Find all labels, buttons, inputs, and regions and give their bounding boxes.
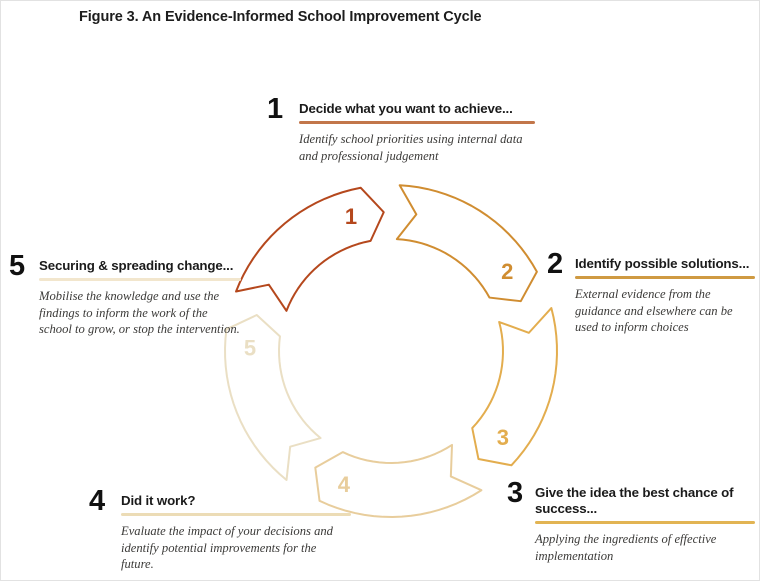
callout-body-1: Decide what you want to achieve... Ident… xyxy=(299,101,535,164)
figure-title: Figure 3. An Evidence-Informed School Im… xyxy=(79,9,481,25)
callout-heading-2: Identify possible solutions... xyxy=(575,256,755,272)
callout-number-1: 1 xyxy=(267,95,283,124)
callout-body-5: Securing & spreading change... Mobilise … xyxy=(39,258,241,338)
callout-rule-5 xyxy=(39,278,241,281)
callout-body-4: Did it work? Evaluate the impact of your… xyxy=(121,493,351,573)
callout-body-2: Identify possible solutions... External … xyxy=(575,256,755,336)
callout-step-5: 5 Securing & spreading change... Mobilis… xyxy=(9,258,241,338)
callout-description-3: Applying the ingredients of effective im… xyxy=(535,531,755,564)
callout-rule-2 xyxy=(575,276,755,279)
callout-rule-4 xyxy=(121,513,351,516)
callout-heading-4: Did it work? xyxy=(121,493,351,509)
cycle-segments xyxy=(225,185,557,517)
callout-description-1: Identify school priorities using interna… xyxy=(299,131,535,164)
cycle-segment-number-3: 3 xyxy=(497,425,509,450)
callout-step-3: 3 Give the idea the best chance of succe… xyxy=(507,485,755,565)
callout-number-3: 3 xyxy=(507,479,523,508)
callout-number-5: 5 xyxy=(9,252,25,281)
callout-description-2: External evidence from the guidance and … xyxy=(575,286,755,336)
callout-heading-3: Give the idea the best chance of success… xyxy=(535,485,755,517)
callout-step-1: 1 Decide what you want to achieve... Ide… xyxy=(267,101,535,164)
callout-rule-1 xyxy=(299,121,535,124)
callout-description-5: Mobilise the knowledge and use the findi… xyxy=(39,288,241,338)
cycle-segment-5 xyxy=(225,315,320,480)
cycle-segment-numbers: 12345 xyxy=(244,204,513,497)
cycle-segment-1 xyxy=(236,188,384,311)
callout-heading-1: Decide what you want to achieve... xyxy=(299,101,535,117)
figure-container: Figure 3. An Evidence-Informed School Im… xyxy=(0,0,760,581)
cycle-segment-number-1: 1 xyxy=(345,204,357,229)
cycle-segment-number-5: 5 xyxy=(244,335,256,360)
callout-heading-5: Securing & spreading change... xyxy=(39,258,241,274)
callout-rule-3 xyxy=(535,521,755,524)
callout-step-2: 2 Identify possible solutions... Externa… xyxy=(547,256,755,336)
cycle-segment-number-2: 2 xyxy=(501,259,513,284)
callout-step-4: 4 Did it work? Evaluate the impact of yo… xyxy=(89,493,351,573)
cycle-segment-2 xyxy=(397,185,537,301)
callout-description-4: Evaluate the impact of your decisions an… xyxy=(121,523,351,573)
callout-number-4: 4 xyxy=(89,487,105,516)
cycle-diagram: 12345 xyxy=(216,181,566,521)
callout-body-3: Give the idea the best chance of success… xyxy=(535,485,755,565)
cycle-segment-3 xyxy=(472,308,557,465)
cycle-diagram-svg: 12345 xyxy=(216,181,566,521)
callout-number-2: 2 xyxy=(547,250,563,279)
